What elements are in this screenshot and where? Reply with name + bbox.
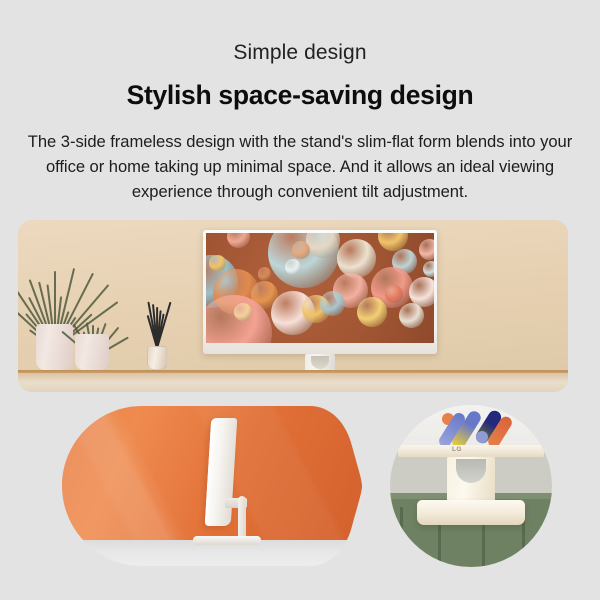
wallpaper-sphere [423, 261, 434, 277]
wallpaper-sphere [399, 303, 424, 328]
stand-base-plate [417, 500, 525, 525]
text-block: Simple design Stylish space-saving desig… [0, 0, 600, 205]
reed-diffuser-sticks [18, 220, 218, 380]
hero-monitor [203, 230, 437, 370]
monitor-back-strip [398, 445, 544, 454]
wallpaper-sphere [419, 239, 434, 260]
desk-edge-line [18, 370, 568, 373]
wallpaper-sphere [357, 297, 387, 327]
lg-logo: LG [452, 446, 462, 454]
stand-closeup-panel: LG [390, 405, 552, 567]
reed-diffuser-jar [147, 346, 167, 370]
side-profile-panel [62, 406, 372, 566]
page-title: Stylish space-saving design [0, 80, 600, 112]
monitor-base-plate [193, 536, 261, 545]
monitor-screen-wallpaper [206, 233, 434, 343]
hero-desk-scene-image [18, 220, 568, 392]
eyebrow-text: Simple design [0, 40, 600, 65]
wallpaper-sphere [227, 233, 250, 248]
wainscot-divider [400, 507, 403, 567]
art-dot-blue [476, 431, 488, 443]
product-feature-card: Simple design Stylish space-saving desig… [0, 0, 600, 600]
wallpaper-sphere [209, 255, 225, 271]
wallpaper-sphere [258, 267, 272, 281]
wallpaper-sphere [320, 291, 345, 316]
side-profile-clip [62, 406, 372, 566]
hero-desk-surface [18, 370, 568, 392]
wallpaper-sphere [337, 239, 376, 278]
description-paragraph: The 3-side frameless design with the sta… [0, 129, 600, 205]
